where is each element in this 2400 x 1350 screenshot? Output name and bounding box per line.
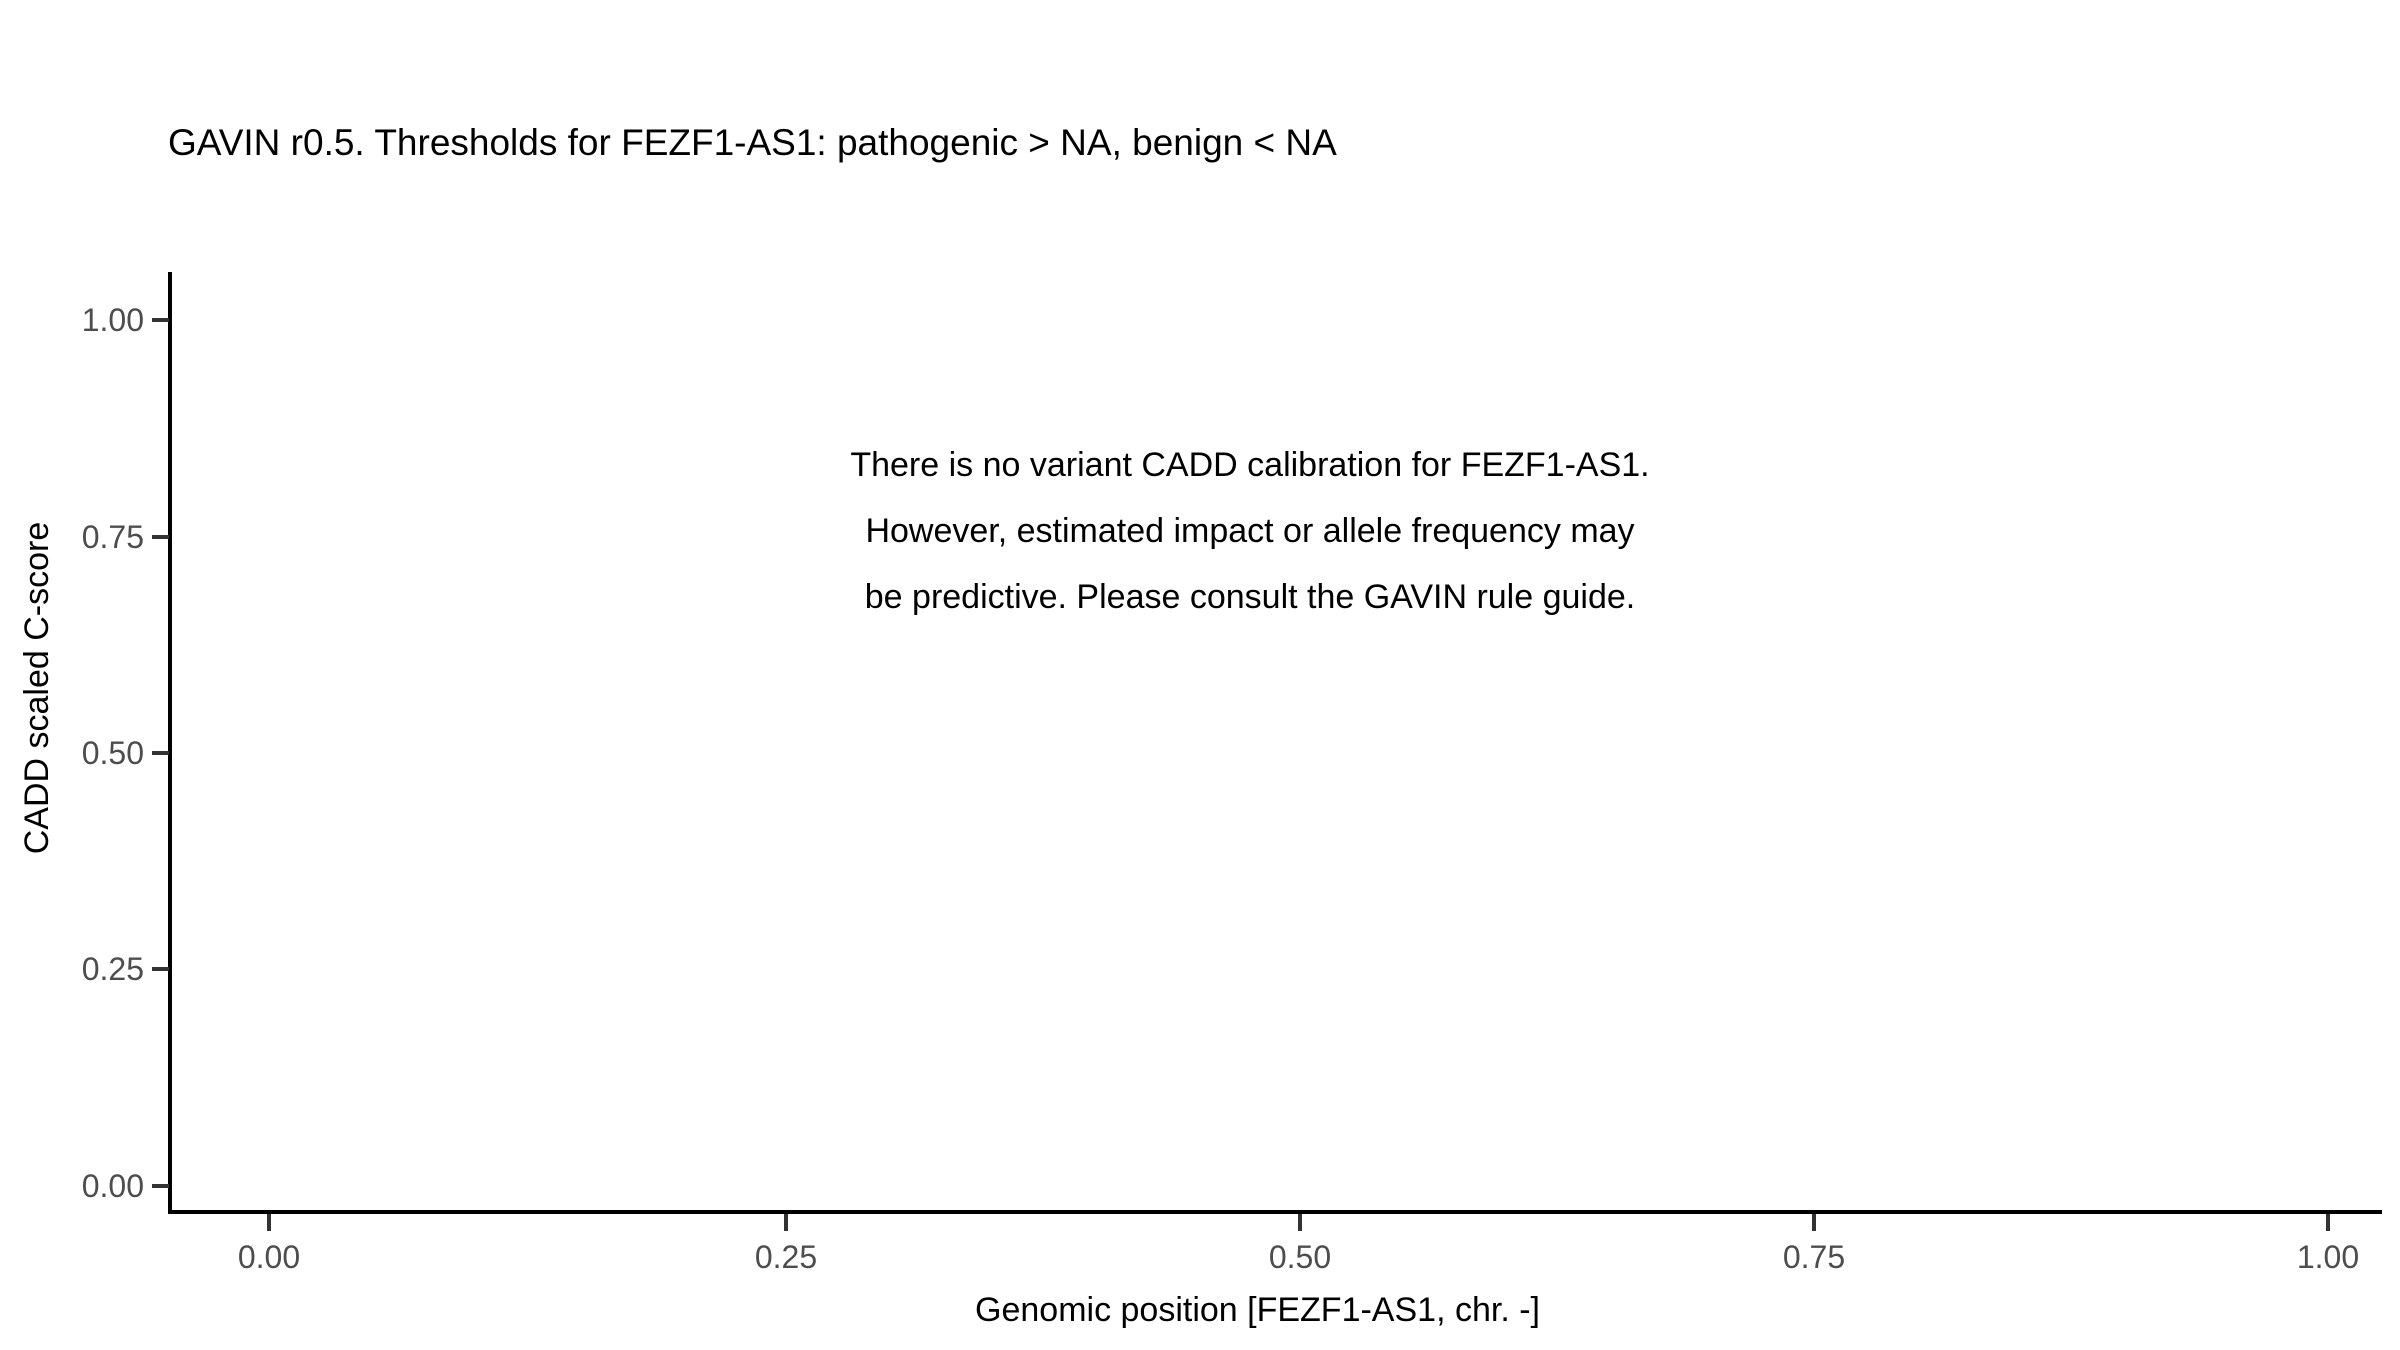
annotation-line-2: However, estimated impact or allele freq… bbox=[600, 498, 1900, 564]
x-tick-mark-0.75 bbox=[1812, 1214, 1816, 1231]
plot-panel bbox=[170, 272, 2382, 1212]
x-tick-label-0.00: 0.00 bbox=[169, 1240, 369, 1274]
x-tick-label-0.50: 0.50 bbox=[1200, 1240, 1400, 1274]
annotation-line-1: There is no variant CADD calibration for… bbox=[600, 432, 1900, 498]
plot-title-line-1: GAVIN r0.5. Thresholds for FEZF1-AS1: pa… bbox=[168, 116, 2168, 170]
y-tick-label-0.50: 0.50 bbox=[0, 737, 144, 769]
y-tick-label-0.25: 0.25 bbox=[0, 953, 144, 985]
x-tick-mark-1.00 bbox=[2326, 1214, 2330, 1231]
y-tick-label-0.75: 0.75 bbox=[0, 521, 144, 553]
x-tick-mark-0.00 bbox=[267, 1214, 271, 1231]
y-tick-mark-1.00 bbox=[152, 318, 169, 322]
x-tick-label-0.75: 0.75 bbox=[1714, 1240, 1914, 1274]
y-tick-label-1.00: 1.00 bbox=[0, 304, 144, 336]
x-tick-label-0.25: 0.25 bbox=[686, 1240, 886, 1274]
y-tick-mark-0.00 bbox=[152, 1184, 169, 1188]
y-axis-line bbox=[168, 272, 172, 1214]
x-tick-mark-0.25 bbox=[784, 1214, 788, 1231]
x-tick-mark-0.50 bbox=[1298, 1214, 1302, 1231]
plot-figure: GAVIN r0.5. Thresholds for FEZF1-AS1: pa… bbox=[0, 0, 2400, 1350]
x-axis-line bbox=[168, 1210, 2382, 1214]
y-tick-label-0.00: 0.00 bbox=[0, 1170, 144, 1202]
y-tick-mark-0.50 bbox=[152, 751, 169, 755]
y-tick-mark-0.75 bbox=[152, 535, 169, 539]
x-axis-title: Genomic position [FEZF1-AS1, chr. -] bbox=[170, 1288, 2345, 1332]
no-calibration-annotation: There is no variant CADD calibration for… bbox=[600, 432, 1900, 630]
y-tick-mark-0.25 bbox=[152, 967, 169, 971]
x-tick-label-1.00: 1.00 bbox=[2228, 1240, 2400, 1274]
annotation-line-3: be predictive. Please consult the GAVIN … bbox=[600, 564, 1900, 630]
